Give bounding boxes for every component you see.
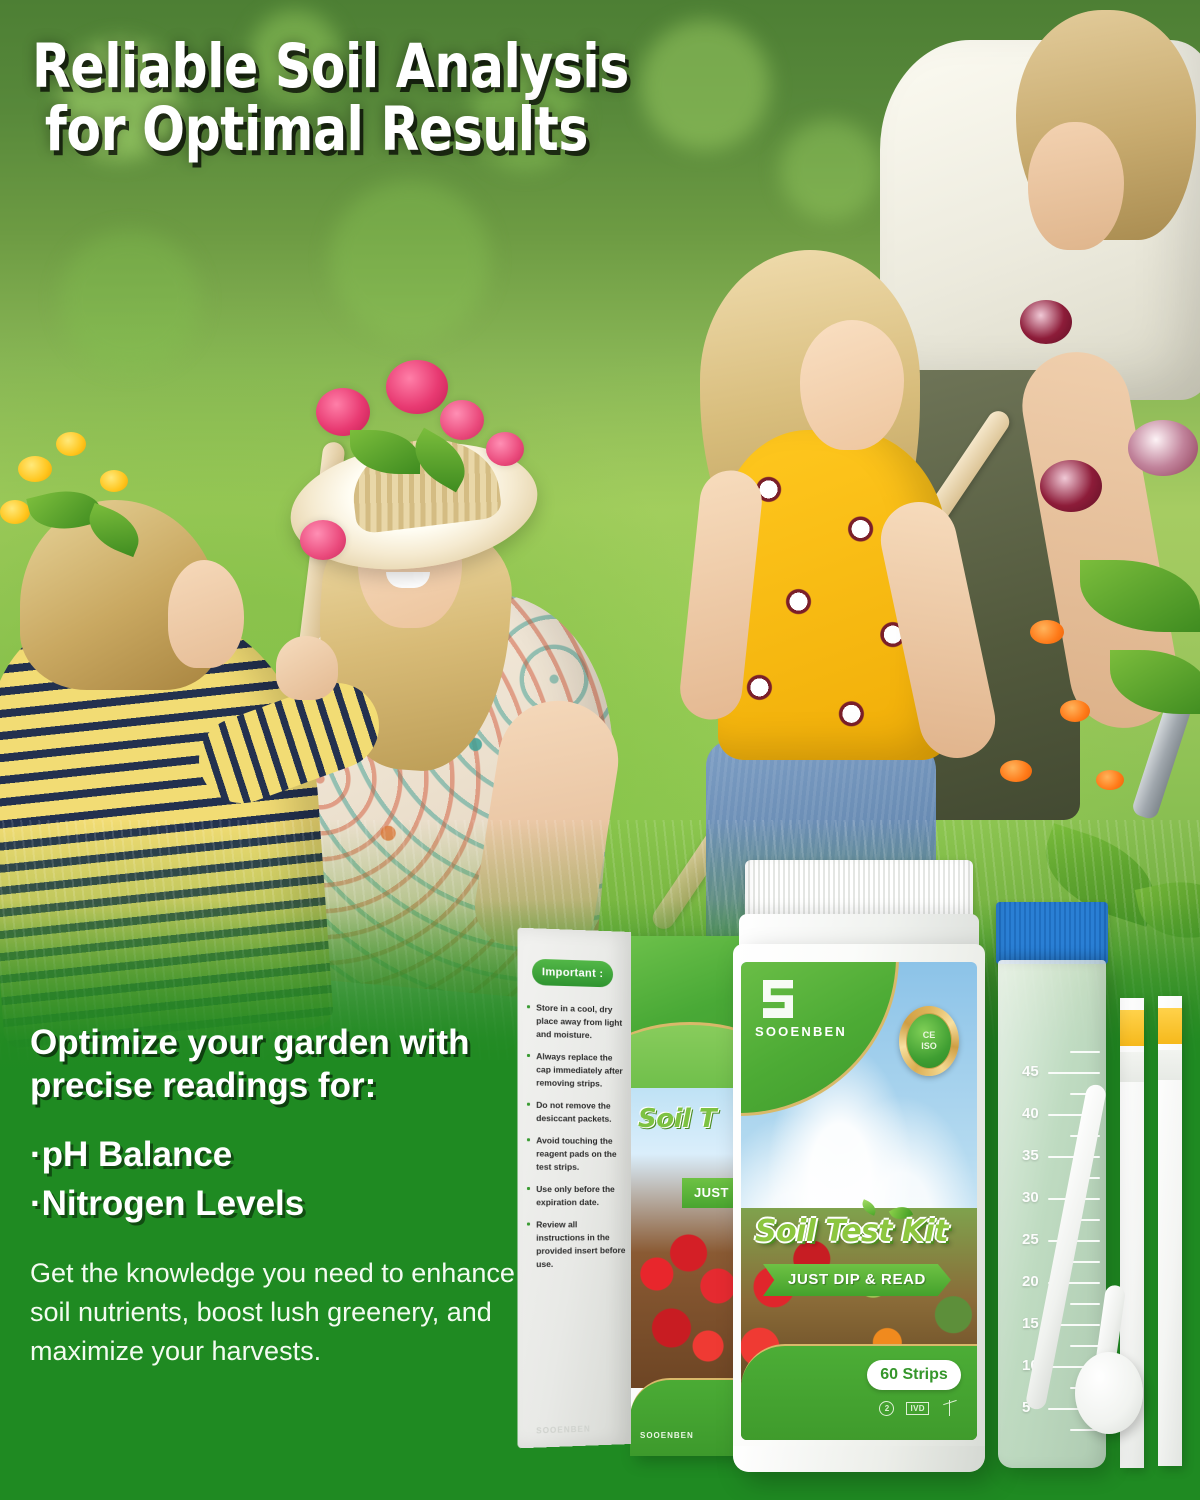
box-front-brand: SOOENBEN xyxy=(640,1431,694,1440)
tube-graduation-major xyxy=(1048,1072,1100,1074)
measuring-spoon-bowl xyxy=(1075,1352,1143,1434)
tube-graduation-label: 30 xyxy=(1022,1189,1039,1206)
seal-ce-text: CE xyxy=(923,1030,936,1041)
tube-graduation-label: 20 xyxy=(1022,1273,1039,1290)
seal-iso-text: ISO xyxy=(921,1041,937,1052)
temperature-symbol-icon xyxy=(941,1400,959,1416)
tube-cap xyxy=(996,902,1108,964)
tube-graduation-minor xyxy=(1070,1303,1100,1305)
bottle-cap xyxy=(745,860,973,918)
product-box: Soil T JUST SOOENBEN Important : Store i… xyxy=(519,932,751,1462)
tube-graduation-label: 25 xyxy=(1022,1231,1039,1248)
reagent-pad xyxy=(1120,1010,1144,1046)
strips-count-badge: 60 Strips xyxy=(867,1360,961,1390)
important-label: Important : xyxy=(532,959,613,988)
bottle-product-title: Soil Test Kit xyxy=(755,1214,965,1249)
box-side-brand: SOOENBEN xyxy=(536,1424,591,1435)
tube-graduation-label: 35 xyxy=(1022,1147,1039,1164)
regulatory-symbols: 2 IVD xyxy=(879,1400,959,1416)
tube-graduation-label: 40 xyxy=(1022,1105,1039,1122)
instruction-item: Review all instructions in the provided … xyxy=(527,1218,626,1271)
marketing-banner: Reliable Soil Analysis for Optimal Resul… xyxy=(0,0,1200,1500)
product-group: Soil T JUST SOOENBEN Important : Store i… xyxy=(0,0,1200,1500)
tube-graduation-minor xyxy=(1070,1345,1100,1347)
seal-inner: CE ISO xyxy=(906,1013,952,1069)
product-bottle: SOOENBEN CE ISO Soil Test Kit JUST DIP &… xyxy=(733,860,985,1472)
instruction-item: Do not remove the desiccant packets. xyxy=(527,1099,626,1126)
tube-graduation-minor xyxy=(1070,1051,1100,1053)
tube-graduation-minor xyxy=(1070,1261,1100,1263)
quantity-symbol-icon: 2 xyxy=(879,1401,894,1416)
bottle-label: SOOENBEN CE ISO Soil Test Kit JUST DIP &… xyxy=(741,962,977,1440)
test-strip xyxy=(1158,996,1182,1466)
bottle-base xyxy=(733,1446,985,1472)
ce-iso-seal-icon: CE ISO xyxy=(899,1006,959,1076)
label-green-footer: 60 Strips 2 IVD xyxy=(741,1344,977,1440)
bottle-tagline-banner: JUST DIP & READ xyxy=(763,1264,951,1296)
tube-graduation-label: 45 xyxy=(1022,1063,1039,1080)
instruction-item: Always replace the cap immediately after… xyxy=(527,1050,626,1091)
reagent-pad-secondary xyxy=(1120,1052,1144,1082)
bottle-body: SOOENBEN CE ISO Soil Test Kit JUST DIP &… xyxy=(733,944,985,1472)
box-front-title: Soil T xyxy=(638,1104,748,1134)
instruction-item: Use only before the expiration date. xyxy=(527,1183,626,1209)
instruction-item: Store in a cool, dry place away from lig… xyxy=(527,1001,626,1043)
reagent-pad xyxy=(1158,1008,1182,1044)
tube-graduation-label: 15 xyxy=(1022,1315,1039,1332)
reagent-pad-secondary xyxy=(1158,1050,1182,1080)
ivd-symbol-icon: IVD xyxy=(906,1402,929,1415)
bottle-brand-name: SOOENBEN xyxy=(755,1024,847,1039)
brand-logo-icon xyxy=(763,980,793,1018)
box-side-panel: Important : Store in a cool, dry place a… xyxy=(518,928,631,1449)
instruction-item: Avoid touching the reagent pads on the t… xyxy=(527,1134,626,1174)
instructions-list: Store in a cool, dry place away from lig… xyxy=(527,1001,626,1281)
